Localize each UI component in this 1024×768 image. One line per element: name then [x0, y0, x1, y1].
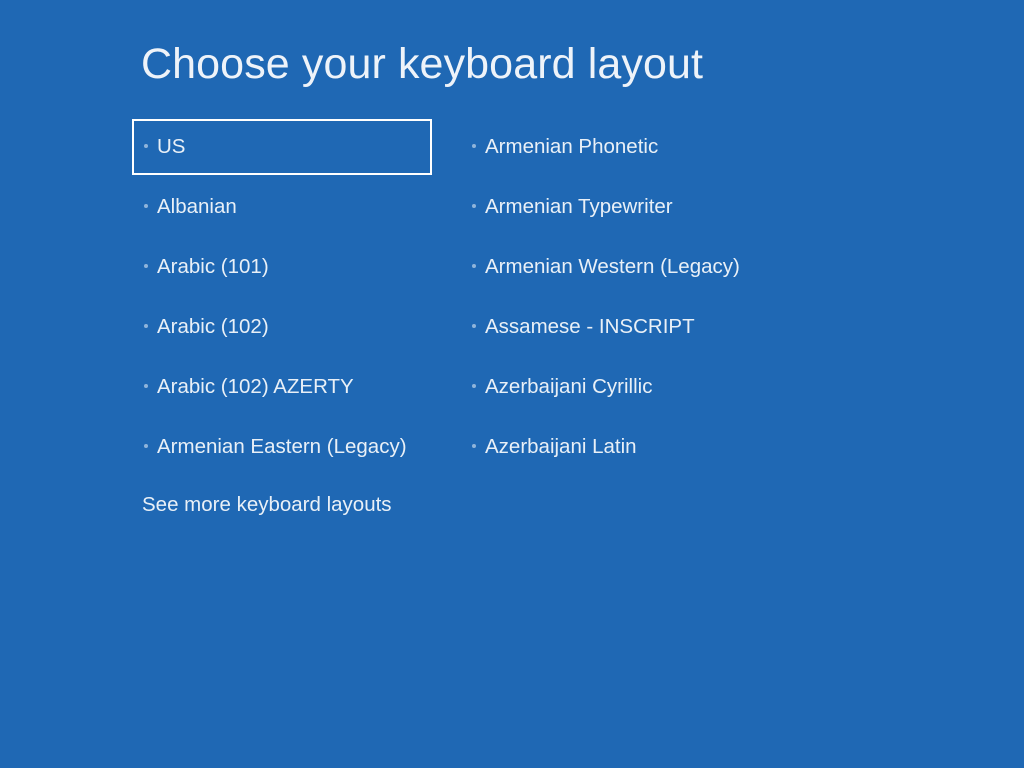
bullet-icon: [144, 324, 148, 328]
keyboard-layout-option-label: US: [157, 134, 185, 160]
keyboard-layout-option[interactable]: Armenian Eastern (Legacy): [132, 419, 432, 475]
bullet-icon: [144, 204, 148, 208]
keyboard-layout-list-right: Armenian PhoneticArmenian TypewriterArme…: [458, 119, 788, 479]
keyboard-layout-option-label: Assamese - INSCRIPT: [485, 314, 695, 340]
bullet-icon: [472, 144, 476, 148]
keyboard-layout-option[interactable]: Albanian: [132, 179, 432, 235]
keyboard-layout-option-label: Azerbaijani Cyrillic: [485, 374, 652, 400]
keyboard-layout-option-label: Armenian Eastern (Legacy): [157, 434, 407, 460]
keyboard-layout-option[interactable]: Azerbaijani Cyrillic: [458, 359, 788, 415]
keyboard-layout-option[interactable]: Arabic (102) AZERTY: [132, 359, 432, 415]
keyboard-layout-option[interactable]: Arabic (101): [132, 239, 432, 295]
keyboard-layout-option[interactable]: Assamese - INSCRIPT: [458, 299, 788, 355]
keyboard-layout-option-label: Armenian Western (Legacy): [485, 254, 740, 280]
bullet-icon: [144, 264, 148, 268]
keyboard-layout-option-label: Azerbaijani Latin: [485, 434, 637, 460]
bullet-icon: [472, 444, 476, 448]
bullet-icon: [472, 324, 476, 328]
keyboard-layout-option[interactable]: Armenian Western (Legacy): [458, 239, 788, 295]
bullet-icon: [472, 204, 476, 208]
keyboard-layout-option-label: Armenian Typewriter: [485, 194, 673, 220]
keyboard-layout-option[interactable]: Armenian Typewriter: [458, 179, 788, 235]
bullet-icon: [144, 444, 148, 448]
keyboard-layout-list-left: USAlbanianArabic (101)Arabic (102)Arabic…: [132, 119, 432, 479]
keyboard-layout-option-label: Albanian: [157, 194, 237, 220]
keyboard-layout-option-label: Arabic (101): [157, 254, 269, 280]
keyboard-layout-option[interactable]: US: [132, 119, 432, 175]
bullet-icon: [472, 384, 476, 388]
keyboard-layout-option[interactable]: Azerbaijani Latin: [458, 419, 788, 475]
keyboard-layout-option-label: Arabic (102): [157, 314, 269, 340]
bullet-icon: [472, 264, 476, 268]
keyboard-layout-option[interactable]: Armenian Phonetic: [458, 119, 788, 175]
keyboard-layout-option[interactable]: Arabic (102): [132, 299, 432, 355]
keyboard-layout-screen: Choose your keyboard layout USAlbanianAr…: [0, 0, 1024, 768]
keyboard-layout-option-label: Arabic (102) AZERTY: [157, 374, 354, 400]
bullet-icon: [144, 384, 148, 388]
page-title: Choose your keyboard layout: [141, 38, 703, 90]
see-more-keyboard-layouts-link[interactable]: See more keyboard layouts: [142, 492, 392, 518]
keyboard-layout-option-label: Armenian Phonetic: [485, 134, 658, 160]
bullet-icon: [144, 144, 148, 148]
